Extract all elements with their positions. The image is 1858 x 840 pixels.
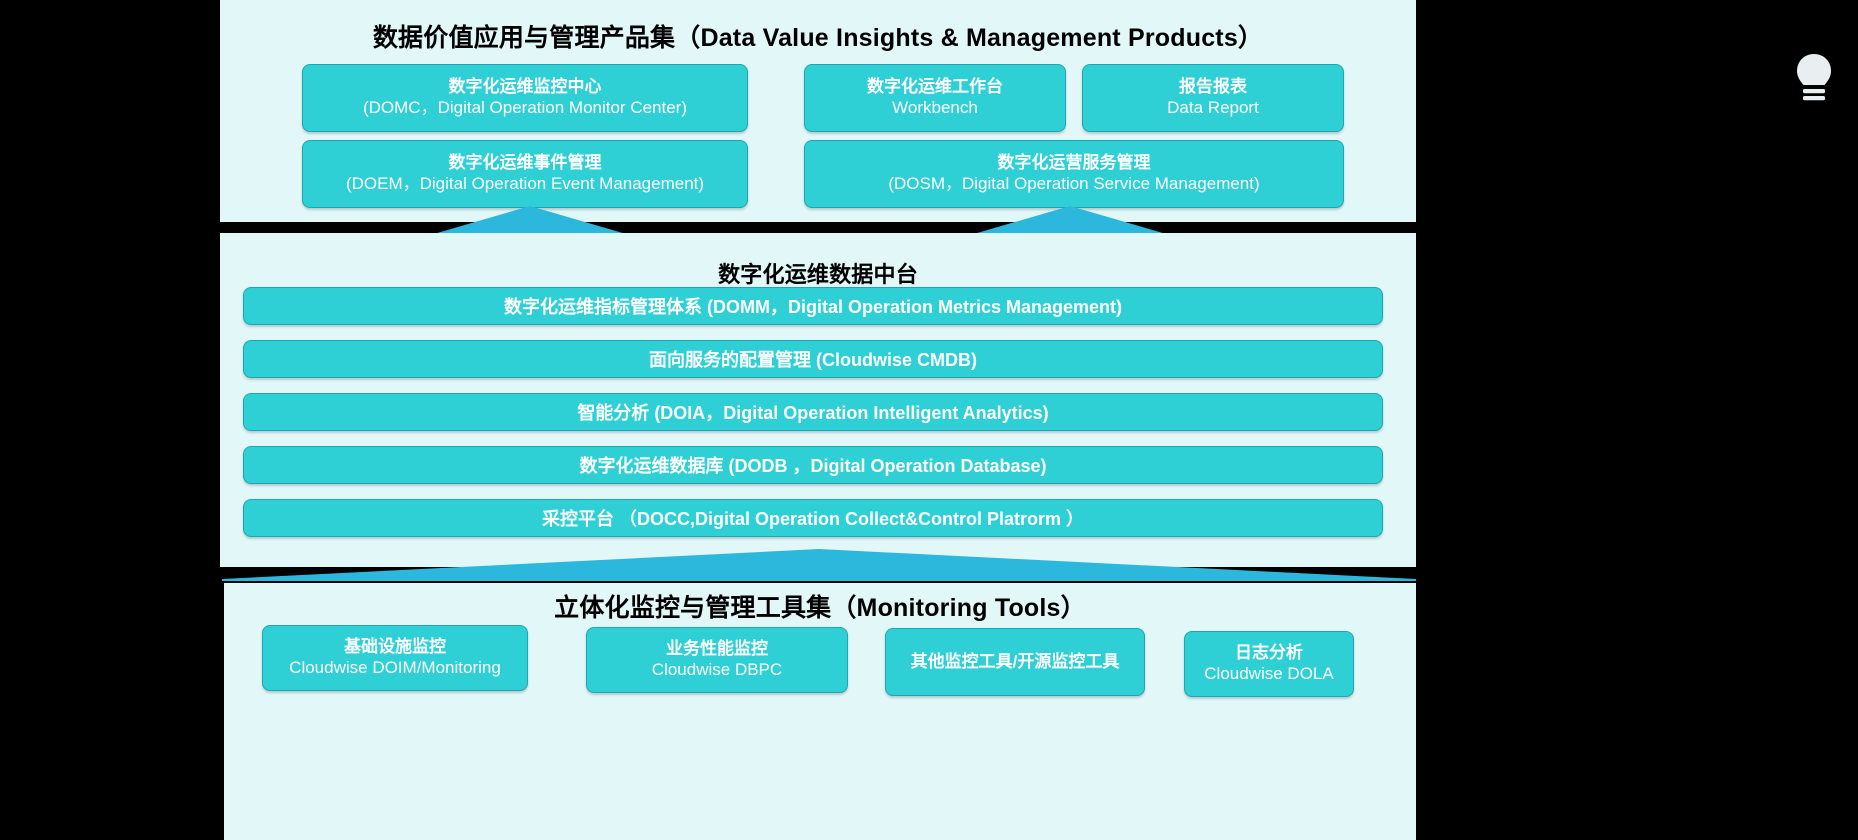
tool-box-infrastructure-monitoring-cn: 基础设施监控 [344,637,446,658]
tool-box-business-performance-monitoring-cn: 业务性能监控 [666,639,768,660]
platform-bar-cmdb[interactable]: 面向服务的配置管理 (Cloudwise CMDB) [243,340,1383,378]
tool-box-business-performance-monitoring[interactable]: 业务性能监控 Cloudwise DBPC [586,627,848,693]
product-box-domc-en: (DOMC，Digital Operation Monitor Center) [363,98,687,119]
product-box-workbench[interactable]: 数字化运维工作台 Workbench [804,64,1066,132]
product-box-workbench-cn: 数字化运维工作台 [867,77,1003,98]
architecture-diagram: 数据价值应用与管理产品集（Data Value Insights & Manag… [0,0,1858,840]
tool-box-log-analysis-cn: 日志分析 [1235,643,1303,664]
tool-box-log-analysis[interactable]: 日志分析 Cloudwise DOLA [1184,631,1354,697]
product-box-data-report-cn: 报告报表 [1179,77,1247,98]
arrow-up-wide-icon [222,549,1416,581]
product-box-doem-en: (DOEM，Digital Operation Event Management… [346,174,704,195]
monitoring-tools-section-title: 立体化监控与管理工具集（Monitoring Tools） [224,588,1416,624]
product-box-workbench-en: Workbench [892,98,978,119]
tool-box-other-open-source-tools-cn: 其他监控工具/开源监控工具 [911,652,1120,673]
tool-box-business-performance-monitoring-en: Cloudwise DBPC [652,660,782,681]
product-box-domc[interactable]: 数字化运维监控中心 (DOMC，Digital Operation Monito… [302,64,748,132]
platform-bar-doia[interactable]: 智能分析 (DOIA，Digital Operation Intelligent… [243,393,1383,431]
data-platform-section-title: 数字化运维数据中台 [220,257,1416,289]
product-box-data-report[interactable]: 报告报表 Data Report [1082,64,1344,132]
product-box-dosm-cn: 数字化运营服务管理 [998,153,1151,174]
product-box-data-report-en: Data Report [1167,98,1259,119]
platform-bar-dodb[interactable]: 数字化运维数据库 (DODB ，Digital Operation Databa… [243,446,1383,484]
product-box-doem[interactable]: 数字化运维事件管理 (DOEM，Digital Operation Event … [302,140,748,208]
platform-bar-domm[interactable]: 数字化运维指标管理体系 (DOMM，Digital Operation Metr… [243,287,1383,325]
tool-box-infrastructure-monitoring[interactable]: 基础设施监控 Cloudwise DOIM/Monitoring [262,625,528,691]
product-box-dosm-en: (DOSM，Digital Operation Service Manageme… [888,174,1259,195]
tool-box-other-open-source-tools[interactable]: 其他监控工具/开源监控工具 [885,628,1145,696]
product-box-doem-cn: 数字化运维事件管理 [449,153,602,174]
products-section-title: 数据价值应用与管理产品集（Data Value Insights & Manag… [220,18,1416,54]
product-box-dosm[interactable]: 数字化运营服务管理 (DOSM，Digital Operation Servic… [804,140,1344,208]
lightbulb-icon [1792,48,1836,108]
tool-box-log-analysis-en: Cloudwise DOLA [1204,664,1333,685]
platform-bar-docc[interactable]: 采控平台 （DOCC,Digital Operation Collect&Con… [243,499,1383,537]
product-box-domc-cn: 数字化运维监控中心 [449,77,602,98]
tool-box-infrastructure-monitoring-en: Cloudwise DOIM/Monitoring [289,658,501,679]
